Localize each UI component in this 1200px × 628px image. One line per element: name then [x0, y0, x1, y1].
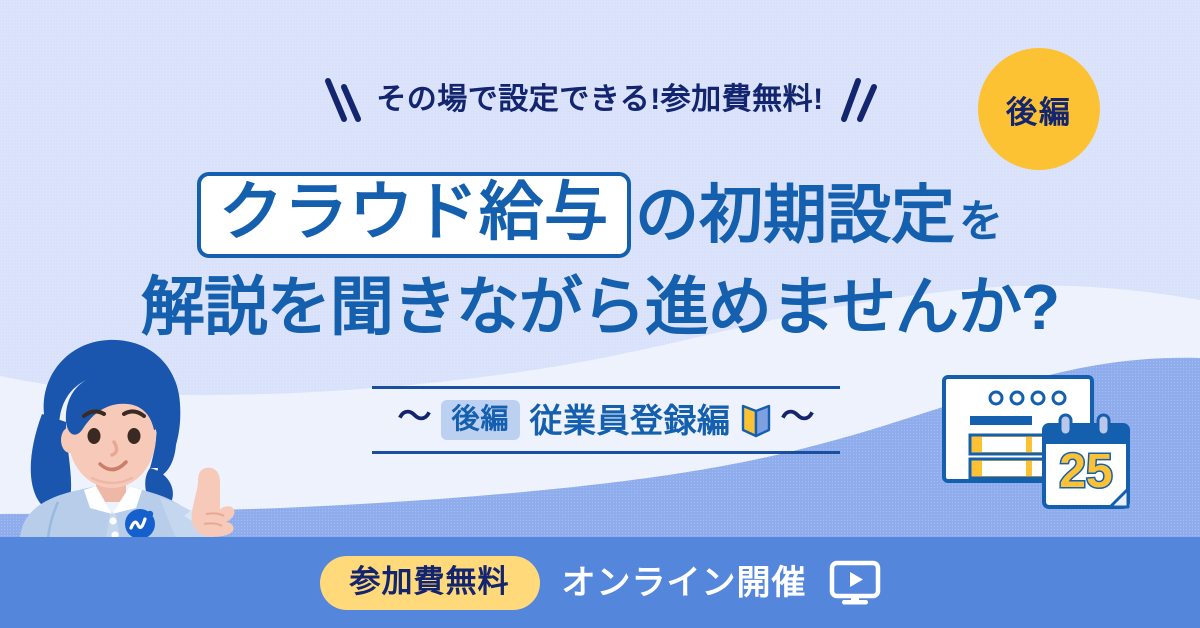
eyebrow-text-wrap: その場で設定できる!参加費無料! — [376, 85, 823, 115]
calendar-icon: 25 — [1044, 415, 1128, 507]
headline-line1-particle: を — [959, 200, 1003, 244]
double-forwardslash-icon — [838, 77, 878, 123]
part-badge-circle: 後編 — [978, 48, 1100, 170]
pointing-woman-illustration — [0, 318, 250, 538]
subtitle-row: 〜 後編 従業員登録編 〜 — [372, 389, 840, 451]
document-table-illustration: 25 — [940, 373, 1140, 513]
product-name-label: クラウド給与 — [219, 180, 609, 244]
open-book-icon — [741, 402, 771, 438]
subtitle-part-chip: 後編 — [441, 400, 519, 440]
tilde-left: 〜 — [397, 400, 431, 434]
bottom-bar: 参加費無料 オンライン開催 — [0, 537, 1200, 628]
double-backslash-icon — [322, 77, 362, 123]
calendar-day-label: 25 — [1059, 445, 1112, 498]
product-name-box: クラウド給与 — [197, 172, 631, 258]
free-entry-pill: 参加費無料 — [320, 556, 540, 610]
eyebrow-label: その場で設定できる!参加費無料! — [376, 83, 823, 116]
monitor-play-icon — [829, 560, 881, 606]
headline-line-1: クラウド給与 の初期設定 を — [0, 160, 1200, 270]
subtitle-part-chip-label: 後編 — [451, 403, 509, 434]
headline-block: クラウド給与 の初期設定 を 解説を聞きながら進めませんか? — [0, 160, 1200, 348]
webinar-banner: その場で設定できる!参加費無料! 後編 クラウド給与 の初期設定 を 解説を聞き… — [0, 0, 1200, 628]
subtitle-rule-bottom — [372, 451, 840, 454]
company-logo-badge-icon — [125, 509, 155, 538]
free-entry-pill-label: 参加費無料 — [350, 564, 510, 599]
tilde-right: 〜 — [781, 400, 815, 434]
headline-line1-rest: の初期設定 — [635, 183, 955, 247]
subtitle-label: 従業員登録編 — [530, 404, 731, 437]
headline-line-2: 解説を聞きながら進めませんか? — [0, 266, 1200, 348]
part-badge-label: 後編 — [1006, 87, 1072, 132]
headline-line2-label: 解説を聞きながら進めませんか? — [141, 275, 1059, 339]
subtitle-block: 〜 後編 従業員登録編 〜 — [372, 386, 840, 454]
online-event-label: オンライン開催 — [562, 566, 807, 600]
